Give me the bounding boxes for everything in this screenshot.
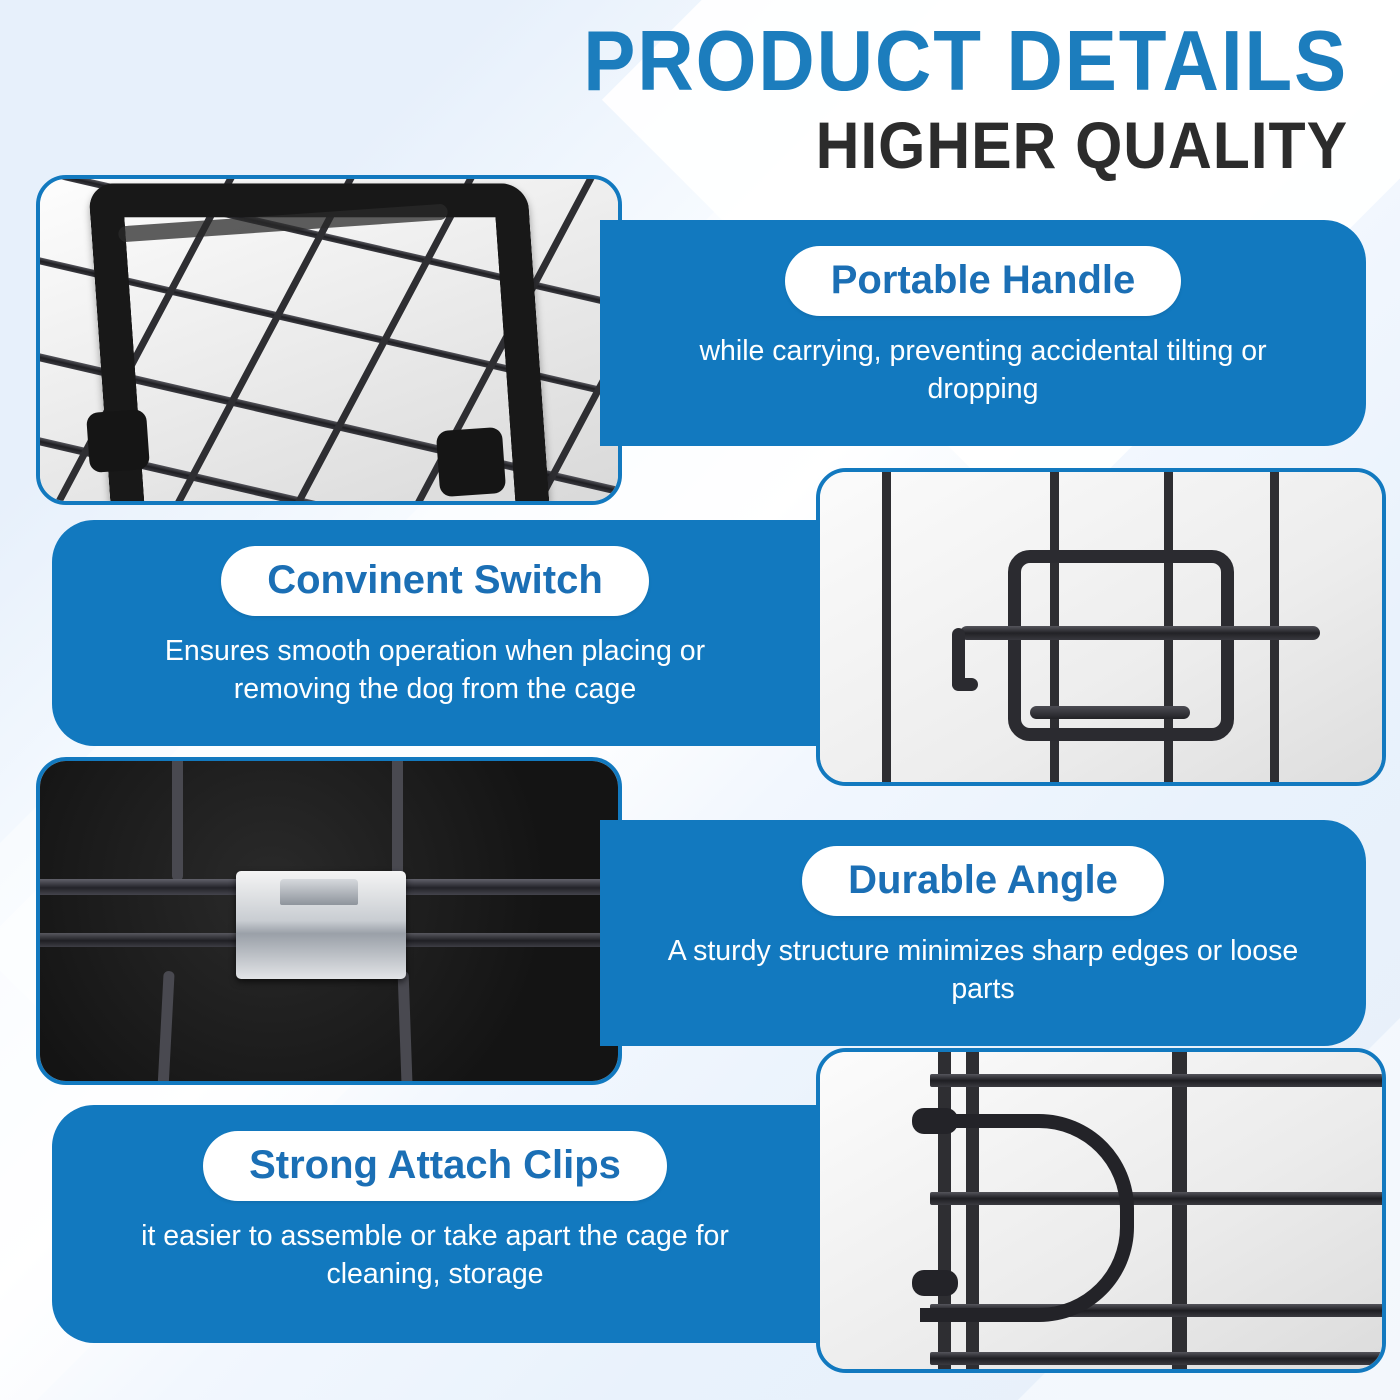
feature-title-strong-attach-clips: Strong Attach Clips: [203, 1131, 667, 1201]
feature-description-portable-handle: while carrying, preventing accidental ti…: [663, 332, 1303, 408]
wire-corner-bend-scene: [820, 1052, 1382, 1369]
photo-strong-attach-clips: [816, 1048, 1386, 1373]
wire-cage-handle-scene: [40, 179, 618, 501]
feature-description-durable-angle: A sturdy structure minimizes sharp edges…: [663, 932, 1303, 1008]
photo-durable-angle: [36, 757, 622, 1085]
metal-clip-scene: [40, 761, 618, 1081]
feature-title-convinent-switch: Convinent Switch: [221, 546, 649, 616]
feature-title-portable-handle: Portable Handle: [785, 246, 1182, 316]
feature-card-portable-handle: Portable Handle while carrying, preventi…: [600, 220, 1366, 446]
feature-title-durable-angle: Durable Angle: [802, 846, 1164, 916]
photo-portable-handle: [36, 175, 622, 505]
page-title: PRODUCT DETAILS: [108, 16, 1348, 108]
photo-convinent-switch: [816, 468, 1386, 786]
feature-card-strong-attach-clips: Strong Attach Clips it easier to assembl…: [52, 1105, 818, 1343]
feature-description-strong-attach-clips: it easier to assemble or take apart the …: [115, 1217, 755, 1293]
cage-latch-switch-scene: [820, 472, 1382, 782]
feature-card-durable-angle: Durable Angle A sturdy structure minimiz…: [600, 820, 1366, 1046]
page-header: PRODUCT DETAILS HIGHER QUALITY: [0, 16, 1400, 182]
feature-description-convinent-switch: Ensures smooth operation when placing or…: [115, 632, 755, 708]
product-details-infographic: PRODUCT DETAILS HIGHER QUALITY Portable …: [0, 0, 1400, 1400]
page-subtitle: HIGHER QUALITY: [108, 108, 1348, 182]
feature-card-convinent-switch: Convinent Switch Ensures smooth operatio…: [52, 520, 818, 746]
